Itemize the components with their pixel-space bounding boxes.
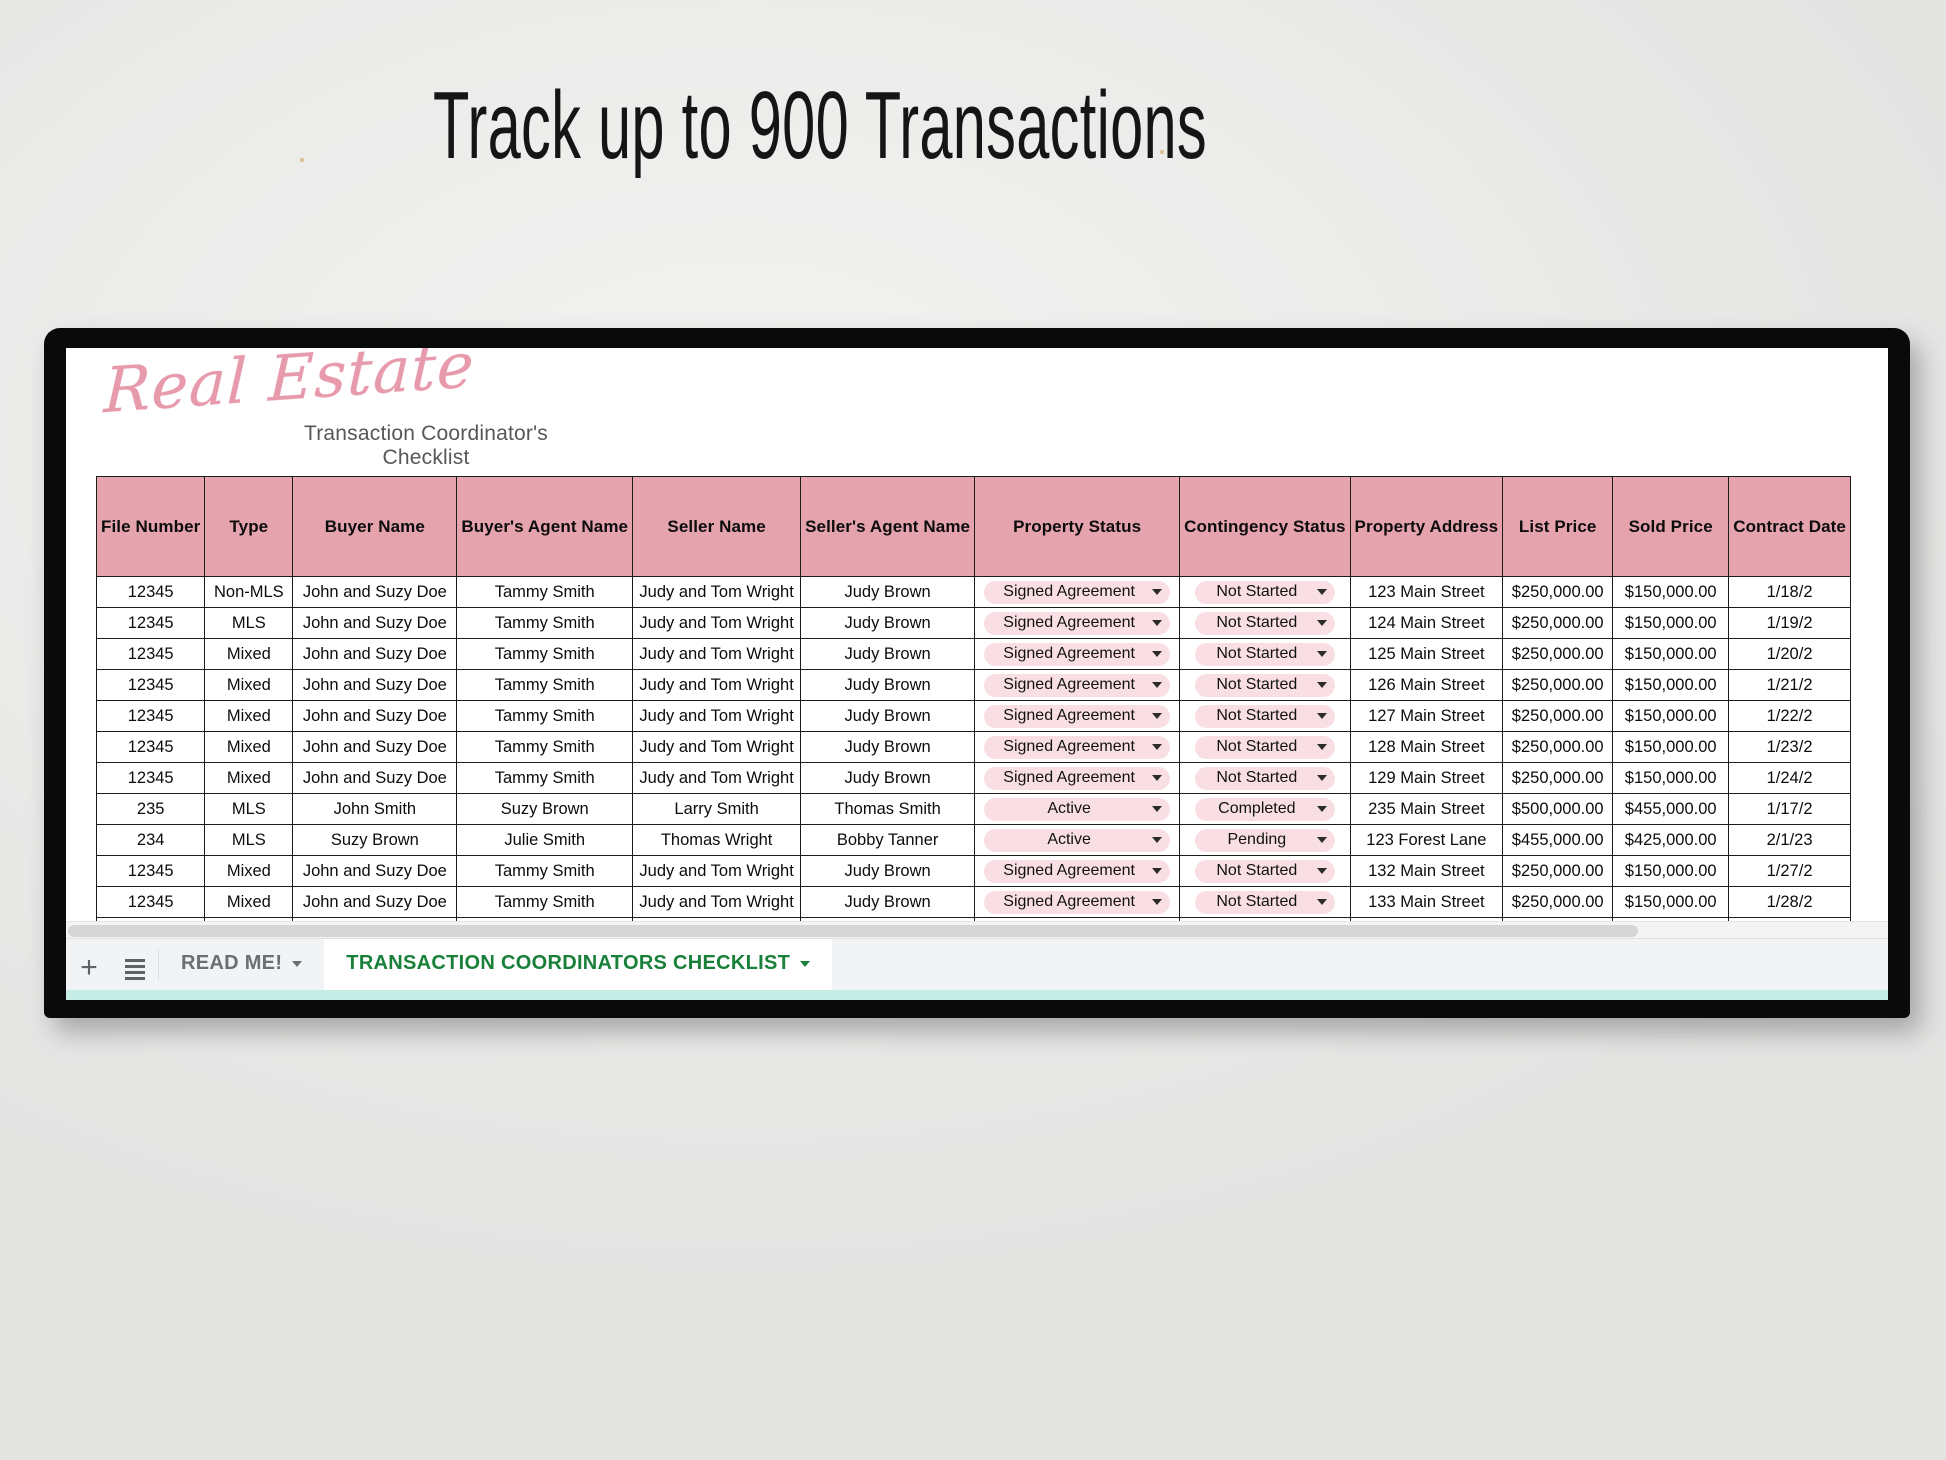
cell-file-number[interactable]: 12345 — [97, 732, 205, 763]
chevron-down-icon[interactable] — [1152, 775, 1162, 781]
chevron-down-icon[interactable] — [800, 961, 810, 967]
status-chip[interactable]: Not Started — [1195, 612, 1335, 635]
cell-sellers-agent-name[interactable]: Judy Brown — [801, 732, 975, 763]
col-header-list-price[interactable]: List Price — [1503, 477, 1613, 577]
status-chip-label: Active — [994, 800, 1144, 818]
status-chip[interactable]: Signed Agreement — [984, 581, 1170, 604]
chevron-down-icon[interactable] — [1152, 682, 1162, 688]
col-header-property-address[interactable]: Property Address — [1350, 477, 1503, 577]
table-row[interactable]: 12345MixedJohn and Suzy DoeTammy SmithJu… — [97, 639, 1851, 670]
horizontal-scrollbar[interactable] — [66, 921, 1888, 938]
horizontal-scrollbar-thumb[interactable] — [68, 925, 1638, 937]
status-chip[interactable]: Not Started — [1195, 581, 1335, 604]
cell-property-address[interactable]: 235 Main Street — [1350, 794, 1503, 825]
status-chip-label: Not Started — [1205, 769, 1309, 787]
cell-property-status[interactable]: Active — [975, 794, 1180, 825]
col-header-type[interactable]: Type — [205, 477, 293, 577]
cell-property-address[interactable]: 124 Main Street — [1350, 608, 1503, 639]
cell-list-price[interactable]: $250,000.00 — [1503, 608, 1613, 639]
chevron-down-icon[interactable] — [1317, 620, 1327, 626]
status-chip-label: Not Started — [1205, 862, 1309, 880]
cell-property-address[interactable]: 123 Forest Lane — [1350, 825, 1503, 856]
status-chip-label: Active — [994, 831, 1144, 849]
table-row[interactable]: 12345MixedJohn and Suzy DoeTammy SmithJu… — [97, 701, 1851, 732]
cell-file-number[interactable]: 12345 — [97, 701, 205, 732]
cell-property-address[interactable]: 128 Main Street — [1350, 732, 1503, 763]
device-bezel: Real Estate Transaction Coordinator's Ch… — [44, 328, 1910, 1018]
status-chip[interactable]: Signed Agreement — [984, 612, 1170, 635]
cell-property-status[interactable]: Signed Agreement — [975, 856, 1180, 887]
chevron-down-icon[interactable] — [1317, 806, 1327, 812]
cell-contract-date[interactable]: 1/27/2 — [1729, 856, 1851, 887]
cell-buyers-agent-name[interactable]: Tammy Smith — [457, 701, 633, 732]
cell-type[interactable]: Mixed — [205, 670, 293, 701]
cell-contingency-status[interactable]: Not Started — [1180, 577, 1350, 608]
cell-contingency-status[interactable]: Not Started — [1180, 701, 1350, 732]
cell-property-address[interactable]: 123 Main Street — [1350, 577, 1503, 608]
cell-list-price[interactable]: $250,000.00 — [1503, 856, 1613, 887]
status-chip-label: Signed Agreement — [994, 738, 1144, 756]
status-chip-label: Not Started — [1205, 893, 1309, 911]
cell-contingency-status[interactable]: Pending — [1180, 825, 1350, 856]
status-chip[interactable]: Active — [984, 798, 1170, 821]
cell-list-price[interactable]: $250,000.00 — [1503, 670, 1613, 701]
chevron-down-icon[interactable] — [1152, 899, 1162, 905]
chevron-down-icon[interactable] — [1317, 744, 1327, 750]
chevron-down-icon[interactable] — [1317, 868, 1327, 874]
cell-sold-price[interactable]: $150,000.00 — [1613, 577, 1729, 608]
cell-property-address[interactable]: 129 Main Street — [1350, 763, 1503, 794]
cell-buyers-agent-name[interactable]: Tammy Smith — [457, 763, 633, 794]
cell-seller-name[interactable]: Judy and Tom Wright — [633, 701, 801, 732]
dust-speck — [300, 158, 304, 162]
cell-sold-price[interactable]: $150,000.00 — [1613, 732, 1729, 763]
cell-seller-name[interactable]: Judy and Tom Wright — [633, 577, 801, 608]
cell-list-price[interactable]: $250,000.00 — [1503, 732, 1613, 763]
chevron-down-icon[interactable] — [1152, 651, 1162, 657]
table-row[interactable]: 235MLSJohn SmithSuzy BrownLarry SmithTho… — [97, 794, 1851, 825]
cell-sellers-agent-name[interactable]: Judy Brown — [801, 701, 975, 732]
cell-buyer-name[interactable]: Suzy Brown — [293, 825, 457, 856]
cell-type[interactable]: MLS — [205, 608, 293, 639]
hamburger-icon — [125, 959, 145, 980]
chevron-down-icon[interactable] — [1317, 837, 1327, 843]
cell-list-price[interactable]: $250,000.00 — [1503, 701, 1613, 732]
cell-contingency-status[interactable]: Not Started — [1180, 639, 1350, 670]
chevron-down-icon[interactable] — [1152, 806, 1162, 812]
cell-type[interactable]: Mixed — [205, 639, 293, 670]
cell-property-status[interactable]: Signed Agreement — [975, 639, 1180, 670]
cell-sold-price[interactable]: $150,000.00 — [1613, 639, 1729, 670]
cell-sold-price[interactable]: $150,000.00 — [1613, 763, 1729, 794]
status-chip-label: Signed Agreement — [994, 862, 1144, 880]
table-row[interactable]: 12345MixedJohn and Suzy DoeTammy SmithJu… — [97, 732, 1851, 763]
cell-sellers-agent-name[interactable]: Judy Brown — [801, 639, 975, 670]
status-chip-label: Not Started — [1205, 645, 1309, 663]
cell-contingency-status[interactable]: Not Started — [1180, 670, 1350, 701]
status-chip[interactable]: Not Started — [1195, 643, 1335, 666]
chevron-down-icon[interactable] — [1152, 744, 1162, 750]
status-chip-label: Signed Agreement — [994, 893, 1144, 911]
cell-property-address[interactable]: 125 Main Street — [1350, 639, 1503, 670]
cell-seller-name[interactable]: Judy and Tom Wright — [633, 732, 801, 763]
cell-list-price[interactable]: $250,000.00 — [1503, 577, 1613, 608]
status-chip[interactable]: Signed Agreement — [984, 767, 1170, 790]
cell-contract-date[interactable]: 1/22/2 — [1729, 701, 1851, 732]
cell-buyers-agent-name[interactable]: Tammy Smith — [457, 670, 633, 701]
cell-seller-name[interactable]: Judy and Tom Wright — [633, 763, 801, 794]
status-chip[interactable]: Not Started — [1195, 736, 1335, 759]
cell-sellers-agent-name[interactable]: Judy Brown — [801, 670, 975, 701]
cell-property-status[interactable]: Signed Agreement — [975, 577, 1180, 608]
cell-buyer-name[interactable]: John and Suzy Doe — [293, 763, 457, 794]
cell-property-status[interactable]: Signed Agreement — [975, 763, 1180, 794]
col-header-buyer-name[interactable]: Buyer Name — [293, 477, 457, 577]
cell-property-address[interactable]: 127 Main Street — [1350, 701, 1503, 732]
cell-list-price[interactable]: $250,000.00 — [1503, 763, 1613, 794]
status-chip-label: Signed Agreement — [994, 583, 1144, 601]
chevron-down-icon[interactable] — [292, 961, 302, 967]
status-chip-label: Pending — [1205, 831, 1309, 849]
cell-sold-price[interactable]: $150,000.00 — [1613, 701, 1729, 732]
dust-speck — [1160, 150, 1164, 154]
cell-list-price[interactable]: $455,000.00 — [1503, 825, 1613, 856]
cell-contract-date[interactable]: 1/17/2 — [1729, 794, 1851, 825]
status-chip[interactable]: Not Started — [1195, 767, 1335, 790]
cell-contingency-status[interactable]: Completed — [1180, 794, 1350, 825]
cell-seller-name[interactable]: Judy and Tom Wright — [633, 887, 801, 918]
status-chip-label: Not Started — [1205, 583, 1309, 601]
col-header-sellers-agent-name[interactable]: Seller's Agent Name — [801, 477, 975, 577]
cell-file-number[interactable]: 12345 — [97, 670, 205, 701]
cell-property-status[interactable]: Signed Agreement — [975, 887, 1180, 918]
cell-type[interactable]: Mixed — [205, 701, 293, 732]
cell-contingency-status[interactable]: Not Started — [1180, 763, 1350, 794]
cell-type[interactable]: Mixed — [205, 732, 293, 763]
cell-sellers-agent-name[interactable]: Judy Brown — [801, 763, 975, 794]
cell-sellers-agent-name[interactable]: Thomas Smith — [801, 794, 975, 825]
cell-sellers-agent-name[interactable]: Judy Brown — [801, 577, 975, 608]
chevron-down-icon[interactable] — [1152, 837, 1162, 843]
col-header-contingency-status[interactable]: Contingency Status — [1180, 477, 1350, 577]
cell-buyers-agent-name[interactable]: Tammy Smith — [457, 732, 633, 763]
logo-script-text: Real Estate — [103, 348, 476, 422]
cell-buyer-name[interactable]: John and Suzy Doe — [293, 701, 457, 732]
cell-contract-date[interactable]: 1/23/2 — [1729, 732, 1851, 763]
table-row[interactable]: 12345MixedJohn and Suzy DoeTammy SmithJu… — [97, 856, 1851, 887]
cell-seller-name[interactable]: Judy and Tom Wright — [633, 670, 801, 701]
cell-contract-date[interactable]: 1/21/2 — [1729, 670, 1851, 701]
cell-seller-name[interactable]: Judy and Tom Wright — [633, 639, 801, 670]
chevron-down-icon[interactable] — [1152, 868, 1162, 874]
screen: Real Estate Transaction Coordinator's Ch… — [66, 348, 1888, 1000]
col-header-file-number[interactable]: File Number — [97, 477, 205, 577]
cell-file-number[interactable]: 12345 — [97, 608, 205, 639]
status-chip[interactable]: Signed Agreement — [984, 674, 1170, 697]
status-chip[interactable]: Completed — [1195, 798, 1335, 821]
table-row[interactable]: 234MLSSuzy BrownJulie SmithThomas Wright… — [97, 825, 1851, 856]
cell-sellers-agent-name[interactable]: Judy Brown — [801, 887, 975, 918]
cell-contract-date[interactable]: 2/1/23 — [1729, 825, 1851, 856]
chevron-down-icon[interactable] — [1317, 713, 1327, 719]
cell-buyers-agent-name[interactable]: Tammy Smith — [457, 856, 633, 887]
col-header-contract-date[interactable]: Contract Date — [1729, 477, 1851, 577]
cell-property-status[interactable]: Signed Agreement — [975, 701, 1180, 732]
cell-sellers-agent-name[interactable]: Bobby Tanner — [801, 825, 975, 856]
cell-buyers-agent-name[interactable]: Tammy Smith — [457, 577, 633, 608]
cell-file-number[interactable]: 12345 — [97, 763, 205, 794]
sheet-tab-label: TRANSACTION COORDINATORS CHECKLIST — [346, 952, 790, 975]
cell-property-address[interactable]: 132 Main Street — [1350, 856, 1503, 887]
cell-sold-price[interactable]: $150,000.00 — [1613, 887, 1729, 918]
cell-sold-price[interactable]: $150,000.00 — [1613, 608, 1729, 639]
cell-seller-name[interactable]: Judy and Tom Wright — [633, 608, 801, 639]
status-chip-label: Not Started — [1205, 738, 1309, 756]
status-chip[interactable]: Signed Agreement — [984, 736, 1170, 759]
sheet-tab-label: READ ME! — [181, 952, 282, 975]
status-chip[interactable]: Not Started — [1195, 891, 1335, 914]
status-chip[interactable]: Signed Agreement — [984, 705, 1170, 728]
cell-property-status[interactable]: Signed Agreement — [975, 732, 1180, 763]
status-chip[interactable]: Pending — [1195, 829, 1335, 852]
cell-type[interactable]: Mixed — [205, 856, 293, 887]
cell-list-price[interactable]: $250,000.00 — [1503, 887, 1613, 918]
cell-buyers-agent-name[interactable]: Tammy Smith — [457, 639, 633, 670]
cell-type[interactable]: MLS — [205, 825, 293, 856]
cell-buyers-agent-name[interactable]: Suzy Brown — [457, 794, 633, 825]
cell-file-number[interactable]: 12345 — [97, 887, 205, 918]
cell-file-number[interactable]: 235 — [97, 794, 205, 825]
cell-seller-name[interactable]: Judy and Tom Wright — [633, 856, 801, 887]
cell-file-number[interactable]: 234 — [97, 825, 205, 856]
chevron-down-icon[interactable] — [1152, 713, 1162, 719]
cell-sold-price[interactable]: $150,000.00 — [1613, 670, 1729, 701]
cell-contingency-status[interactable]: Not Started — [1180, 732, 1350, 763]
cell-file-number[interactable]: 12345 — [97, 577, 205, 608]
cell-buyer-name[interactable]: John and Suzy Doe — [293, 732, 457, 763]
cell-sold-price[interactable]: $455,000.00 — [1613, 794, 1729, 825]
status-chip-label: Not Started — [1205, 707, 1309, 725]
status-chip-label: Signed Agreement — [994, 769, 1144, 787]
status-chip[interactable]: Active — [984, 829, 1170, 852]
cell-sellers-agent-name[interactable]: Judy Brown — [801, 608, 975, 639]
cell-sold-price[interactable]: $150,000.00 — [1613, 856, 1729, 887]
table-row[interactable]: 12345MixedJohn and Suzy DoeTammy SmithJu… — [97, 763, 1851, 794]
cell-contract-date[interactable]: 1/19/2 — [1729, 608, 1851, 639]
status-chip-label: Signed Agreement — [994, 614, 1144, 632]
status-chip[interactable]: Not Started — [1195, 674, 1335, 697]
status-chip-label: Not Started — [1205, 614, 1309, 632]
table-row[interactable]: 12345MLSJohn and Suzy DoeTammy SmithJudy… — [97, 608, 1851, 639]
col-header-seller-name[interactable]: Seller Name — [633, 477, 801, 577]
cell-buyer-name[interactable]: John Smith — [293, 794, 457, 825]
cell-buyers-agent-name[interactable]: Tammy Smith — [457, 887, 633, 918]
cell-buyer-name[interactable]: John and Suzy Doe — [293, 887, 457, 918]
col-header-property-status[interactable]: Property Status — [975, 477, 1180, 577]
chevron-down-icon[interactable] — [1152, 620, 1162, 626]
cell-seller-name[interactable]: Thomas Wright — [633, 825, 801, 856]
sheet-tab-bar: + READ ME! TRANSACTION COORDINATORS CHEC… — [66, 938, 1888, 1000]
table-header-row: File Number Type Buyer Name Buyer's Agen… — [97, 477, 1851, 577]
cell-buyer-name[interactable]: John and Suzy Doe — [293, 856, 457, 887]
cell-buyers-agent-name[interactable]: Tammy Smith — [457, 608, 633, 639]
status-chip[interactable]: Signed Agreement — [984, 891, 1170, 914]
logo-subtitle: Transaction Coordinator's Checklist — [276, 422, 576, 470]
status-chip[interactable]: Signed Agreement — [984, 643, 1170, 666]
cell-file-number[interactable]: 12345 — [97, 856, 205, 887]
brand-logo: Real Estate Transaction Coordinator's Ch… — [66, 348, 1888, 476]
cell-type[interactable]: Mixed — [205, 887, 293, 918]
status-chip-label: Not Started — [1205, 676, 1309, 694]
cell-type[interactable]: Non-MLS — [205, 577, 293, 608]
cell-property-address[interactable]: 133 Main Street — [1350, 887, 1503, 918]
table-row[interactable]: 12345MixedJohn and Suzy DoeTammy SmithJu… — [97, 887, 1851, 918]
chevron-down-icon[interactable] — [1317, 589, 1327, 595]
status-chip-label: Signed Agreement — [994, 707, 1144, 725]
cell-property-status[interactable]: Signed Agreement — [975, 670, 1180, 701]
cell-buyers-agent-name[interactable]: Julie Smith — [457, 825, 633, 856]
cell-buyer-name[interactable]: John and Suzy Doe — [293, 670, 457, 701]
cell-contract-date[interactable]: 1/24/2 — [1729, 763, 1851, 794]
cell-sellers-agent-name[interactable]: Judy Brown — [801, 856, 975, 887]
cell-sold-price[interactable]: $425,000.00 — [1613, 825, 1729, 856]
chevron-down-icon[interactable] — [1317, 682, 1327, 688]
chevron-down-icon[interactable] — [1317, 651, 1327, 657]
status-chip[interactable]: Signed Agreement — [984, 860, 1170, 883]
status-chip[interactable]: Not Started — [1195, 860, 1335, 883]
cell-file-number[interactable]: 12345 — [97, 639, 205, 670]
col-header-buyers-agent-name[interactable]: Buyer's Agent Name — [457, 477, 633, 577]
cell-contract-date[interactable]: 1/20/2 — [1729, 639, 1851, 670]
cell-type[interactable]: Mixed — [205, 763, 293, 794]
cell-contract-date[interactable]: 1/28/2 — [1729, 887, 1851, 918]
status-chip[interactable]: Not Started — [1195, 705, 1335, 728]
chevron-down-icon[interactable] — [1152, 589, 1162, 595]
cell-contingency-status[interactable]: Not Started — [1180, 887, 1350, 918]
cell-property-status[interactable]: Active — [975, 825, 1180, 856]
cell-property-address[interactable]: 126 Main Street — [1350, 670, 1503, 701]
tabbar-accent-strip — [66, 990, 1888, 1000]
status-chip-label: Signed Agreement — [994, 676, 1144, 694]
col-header-sold-price[interactable]: Sold Price — [1613, 477, 1729, 577]
status-chip-label: Completed — [1205, 800, 1309, 818]
table-row[interactable]: 12345MixedJohn and Suzy DoeTammy SmithJu… — [97, 670, 1851, 701]
cell-list-price[interactable]: $250,000.00 — [1503, 639, 1613, 670]
page-title: Track up to 900 Transactions — [312, 78, 1329, 174]
cell-buyer-name[interactable]: John and Suzy Doe — [293, 639, 457, 670]
cell-contingency-status[interactable]: Not Started — [1180, 856, 1350, 887]
chevron-down-icon[interactable] — [1317, 775, 1327, 781]
cell-buyer-name[interactable]: John and Suzy Doe — [293, 577, 457, 608]
cell-type[interactable]: MLS — [205, 794, 293, 825]
cell-contingency-status[interactable]: Not Started — [1180, 608, 1350, 639]
cell-buyer-name[interactable]: John and Suzy Doe — [293, 608, 457, 639]
table-row[interactable]: 12345Non-MLSJohn and Suzy DoeTammy Smith… — [97, 577, 1851, 608]
cell-seller-name[interactable]: Larry Smith — [633, 794, 801, 825]
status-chip-label: Signed Agreement — [994, 645, 1144, 663]
cell-list-price[interactable]: $500,000.00 — [1503, 794, 1613, 825]
cell-contract-date[interactable]: 1/18/2 — [1729, 577, 1851, 608]
cell-property-status[interactable]: Signed Agreement — [975, 608, 1180, 639]
chevron-down-icon[interactable] — [1317, 899, 1327, 905]
